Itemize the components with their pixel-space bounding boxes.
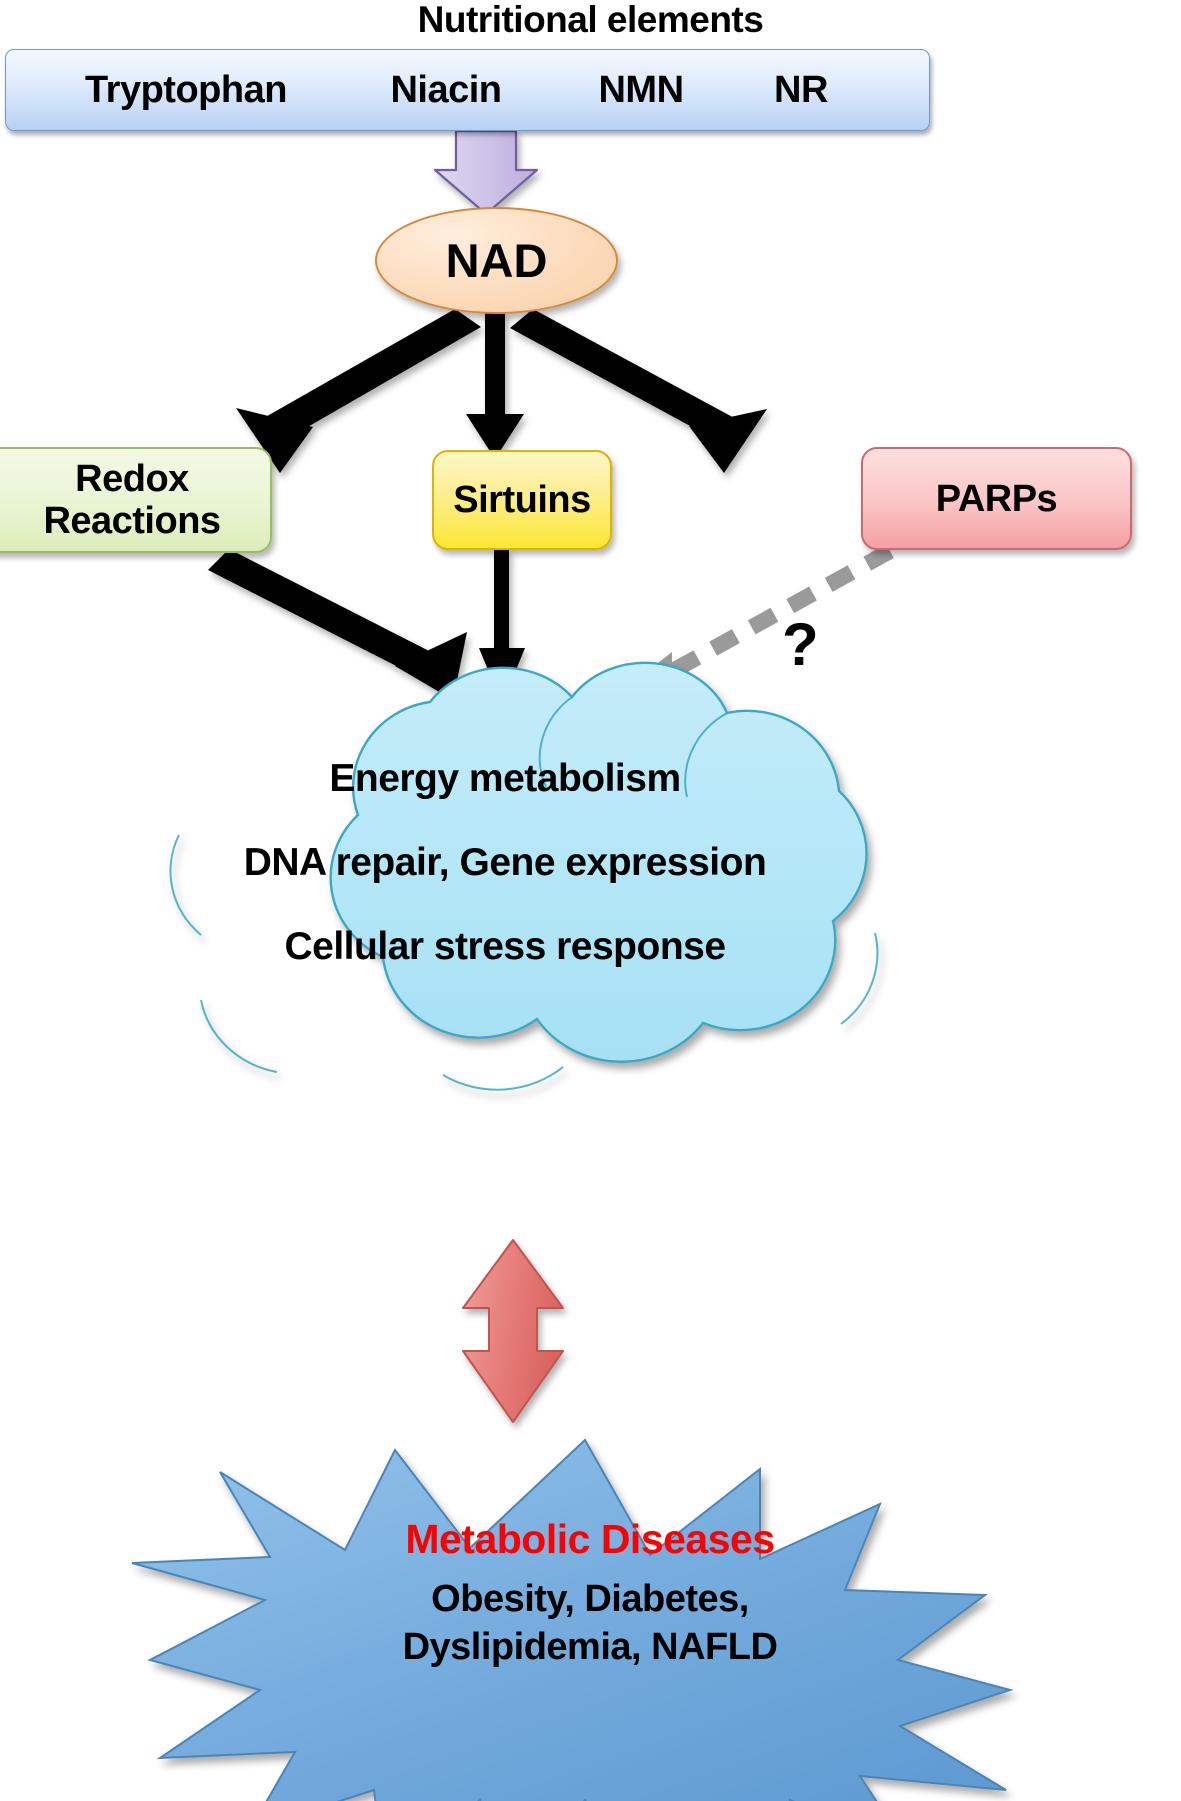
nutrient-niacin[interactable]: Niacin (366, 69, 526, 112)
process-label-redox-line1: Redox (75, 458, 189, 500)
cloud-line-cellular-stress-response: Cellular stress response (110, 925, 900, 969)
double-headed-vertical-arrow-icon (463, 1240, 563, 1422)
cloud-content: Energy metabolism DNA repair, Gene expre… (110, 757, 900, 969)
outcome-subtitle: Obesity, Diabetes, Dyslipidemia, NAFLD (190, 1575, 990, 1671)
process-box-redox-reactions[interactable]: Redox Reactions (0, 447, 272, 553)
diagonal-arrow-down-right-icon-nad-parps (510, 309, 767, 473)
nutrient-nmn[interactable]: NMN (566, 69, 716, 112)
down-arrow-icon-nad-sirtuins (466, 312, 524, 459)
diagonal-arrow-down-left-icon-nad-redox (236, 309, 481, 473)
cloud-line-energy-metabolism: Energy metabolism (110, 757, 900, 801)
page-title: Nutritional elements (0, 0, 1181, 40)
cloud-line-dna-repair-gene-expression: DNA repair, Gene expression (110, 841, 900, 885)
nutritional-elements-bar[interactable]: Tryptophan Niacin NMN NR (5, 49, 930, 131)
outcome-subtitle-line1: Obesity, Diabetes, (431, 1578, 749, 1620)
diagonal-arrow-down-right-icon-redox-cloud (208, 549, 467, 700)
process-label-redox: Redox Reactions (43, 458, 220, 542)
nad-label: NAD (446, 233, 548, 288)
nad-node[interactable]: NAD (375, 207, 618, 314)
down-arrow-icon-intake (435, 131, 537, 214)
diagram-canvas: Nutritional elements Tryptophan Niacin N… (0, 0, 1181, 1801)
process-box-sirtuins[interactable]: Sirtuins (432, 450, 612, 550)
process-box-parps[interactable]: PARPs (861, 447, 1132, 550)
outcome-subtitle-line2: Dyslipidemia, NAFLD (403, 1626, 778, 1668)
process-label-parps: PARPs (936, 478, 1057, 520)
process-label-sirtuins: Sirtuins (453, 479, 590, 521)
process-label-redox-line2: Reactions (43, 500, 220, 542)
nutrient-nr[interactable]: NR (746, 69, 856, 112)
nutrient-tryptophan[interactable]: Tryptophan (66, 69, 306, 112)
outcome-content: Metabolic Diseases Obesity, Diabetes, Dy… (190, 1516, 990, 1671)
outcome-title: Metabolic Diseases (190, 1516, 990, 1563)
question-mark-annotation: ? (782, 610, 819, 679)
